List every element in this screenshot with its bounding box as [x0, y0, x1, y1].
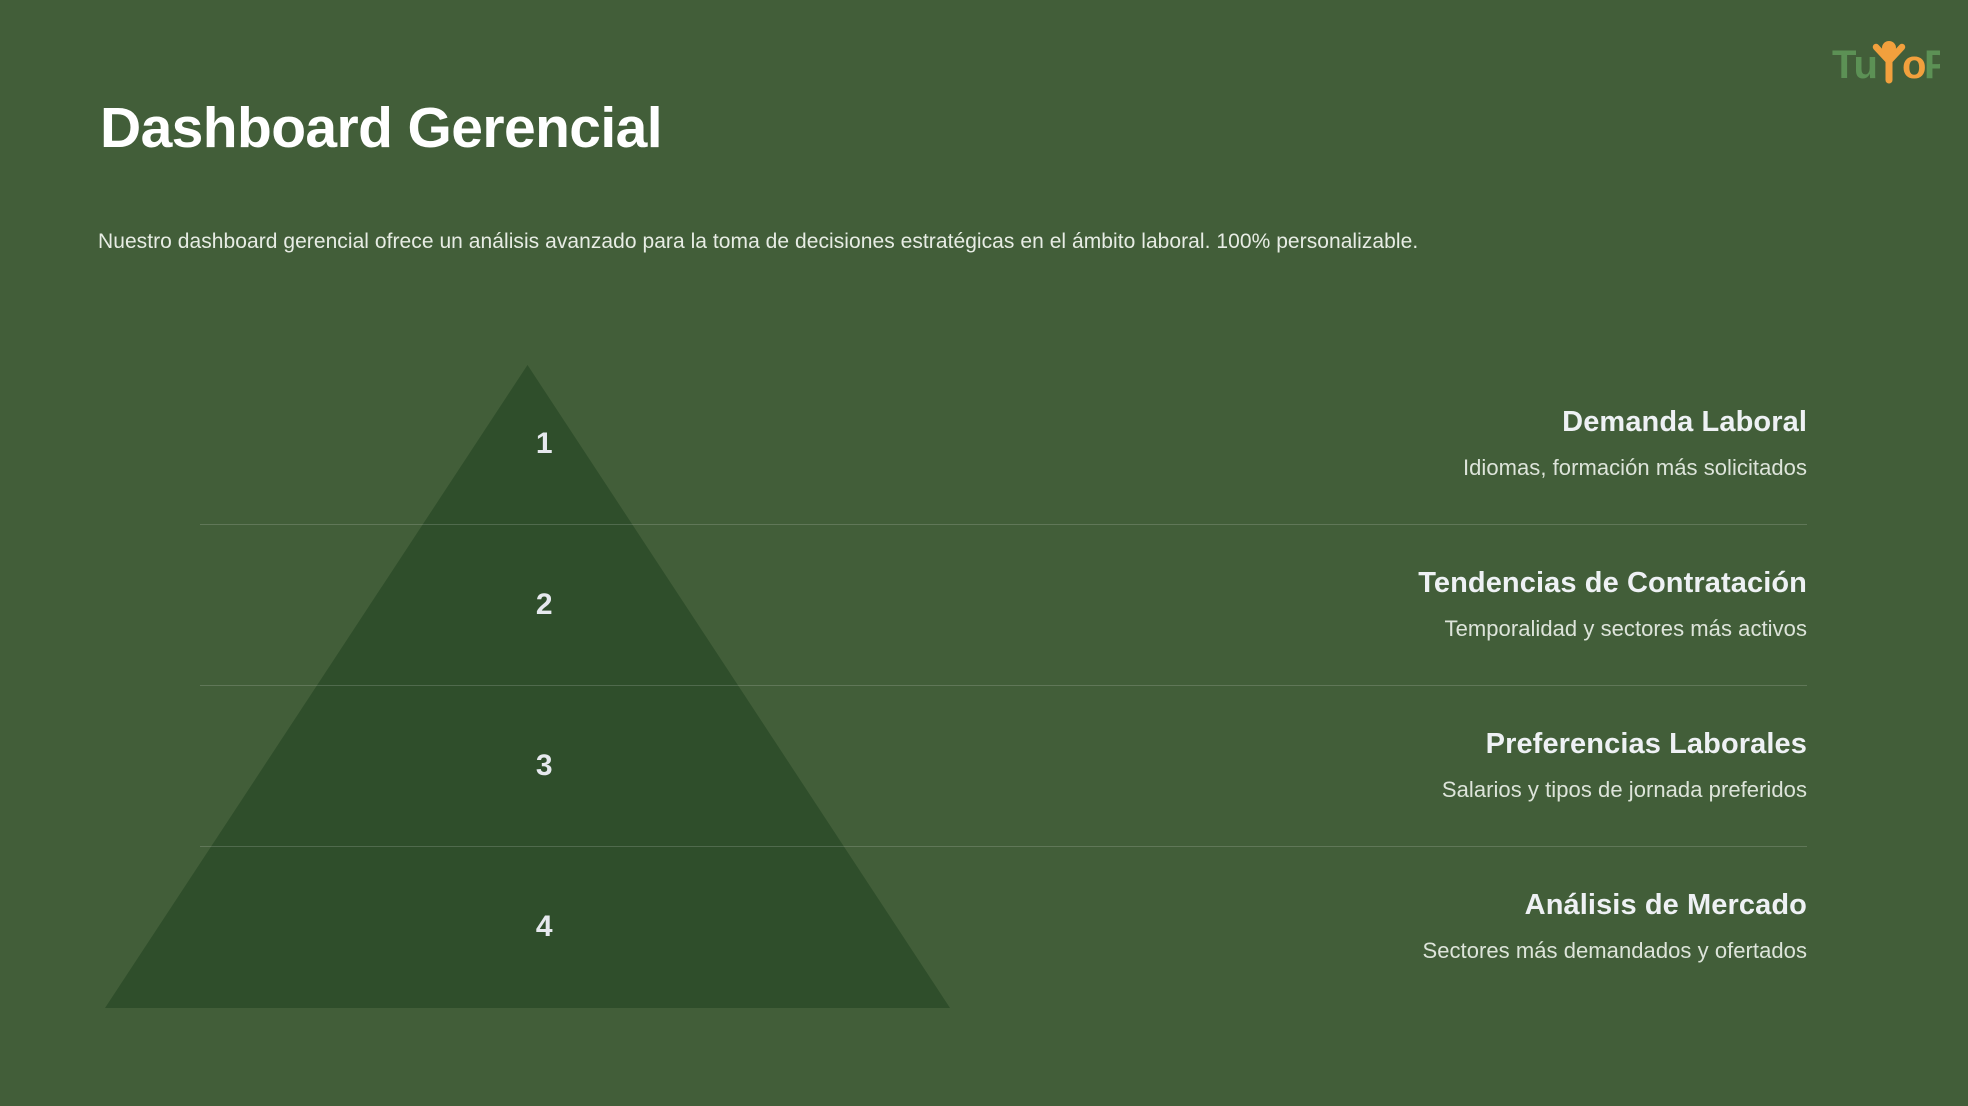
level-description: Salarios y tipos de jornada preferidos: [1442, 777, 1807, 803]
pyramid-level-2[interactable]: 2 Tendencias de Contratación Temporalida…: [0, 524, 1968, 685]
level-title: Demanda Laboral: [1562, 406, 1807, 439]
level-description: Temporalidad y sectores más activos: [1445, 616, 1807, 642]
level-title: Tendencias de Contratación: [1418, 567, 1807, 600]
level-text-block: Preferencias Laborales Salarios y tipos …: [0, 685, 1807, 846]
pyramid-level-3[interactable]: 3 Preferencias Laborales Salarios y tipo…: [0, 685, 1968, 846]
level-text-block: Demanda Laboral Idiomas, formación más s…: [0, 363, 1807, 524]
level-text-block: Tendencias de Contratación Temporalidad …: [0, 524, 1807, 685]
pyramid-level-1[interactable]: 1 Demanda Laboral Idiomas, formación más…: [0, 363, 1968, 524]
level-description: Sectores más demandados y ofertados: [1422, 938, 1807, 964]
level-title: Análisis de Mercado: [1525, 889, 1807, 922]
level-title: Preferencias Laborales: [1486, 728, 1807, 761]
level-text-block: Análisis de Mercado Sectores más demanda…: [0, 846, 1807, 1007]
level-description: Idiomas, formación más solicitados: [1463, 455, 1807, 481]
pyramid-diagram: 1 Demanda Laboral Idiomas, formación más…: [0, 0, 1968, 1106]
pyramid-level-4[interactable]: 4 Análisis de Mercado Sectores más deman…: [0, 846, 1968, 1007]
